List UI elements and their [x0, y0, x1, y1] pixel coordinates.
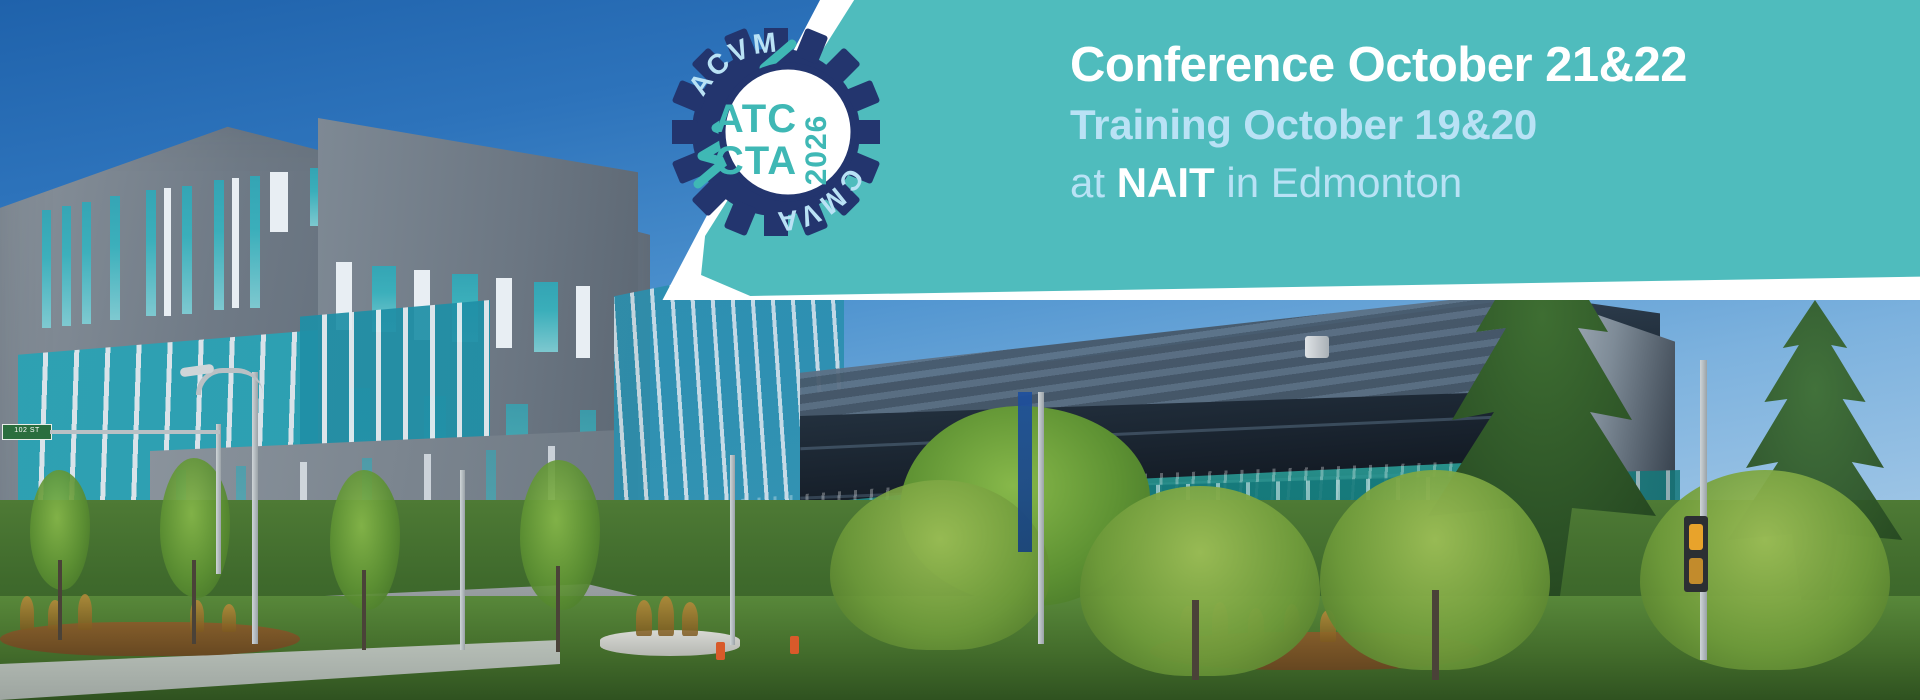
pole-banner — [1018, 392, 1032, 552]
atccta-2026-logo: ACVM CMVA ATC CTA 2026 — [672, 28, 880, 236]
headline-line-location: at NAIT in Edmonton — [1070, 154, 1890, 212]
light-pole-mid — [1038, 392, 1044, 644]
traffic-signal-amber — [1689, 524, 1703, 550]
headline-block: Conference October 21&22 Training Octobe… — [1070, 34, 1890, 212]
roof-vent — [1305, 336, 1329, 358]
light-pole-right — [1700, 360, 1707, 660]
logo-year: 2026 — [800, 115, 833, 186]
headline-line-training: Training October 19&20 — [1070, 96, 1890, 154]
logo-center-line2: CTA — [715, 139, 797, 183]
conference-banner: 102 ST — [0, 0, 1920, 700]
street-sign: 102 ST — [2, 424, 52, 440]
headline-line-conference: Conference October 21&22 — [1070, 34, 1890, 96]
location-nait: NAIT — [1117, 159, 1215, 206]
street-lamp-post — [252, 372, 258, 644]
location-prefix: at — [1070, 159, 1117, 206]
logo-center-line1: ATC — [715, 97, 797, 141]
location-suffix: in Edmonton — [1215, 159, 1463, 206]
